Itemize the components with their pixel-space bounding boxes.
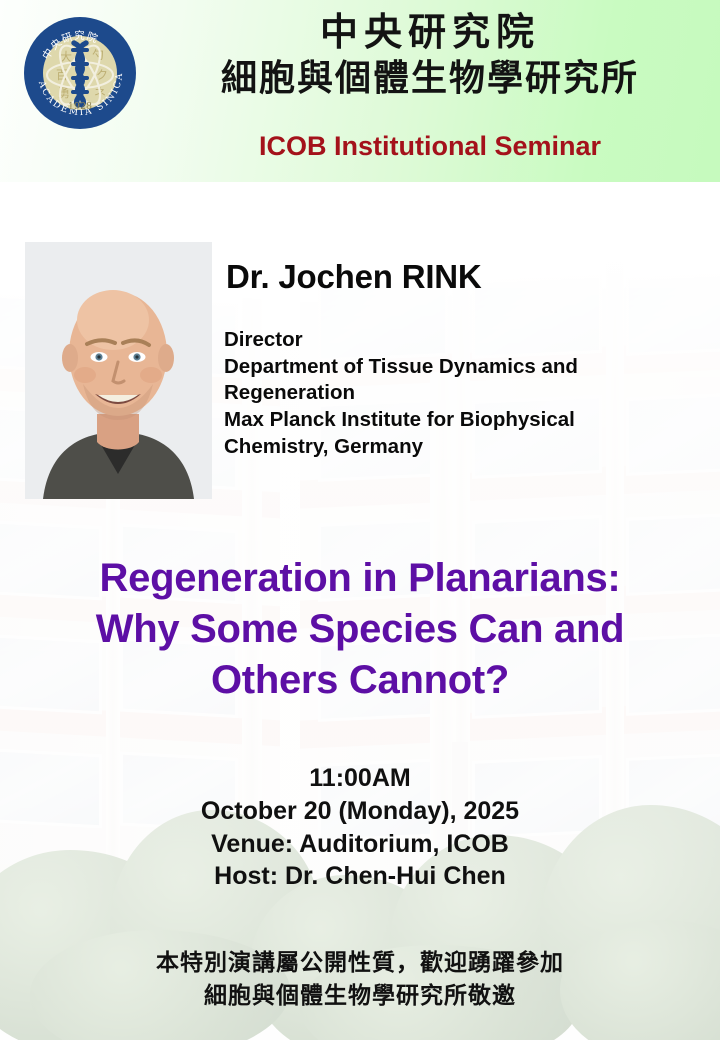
speaker-photo: [25, 242, 212, 499]
affiliation-line: Department of Tissue Dynamics and: [224, 354, 702, 381]
footer-notice: 本特別演講屬公開性質，歡迎踴躍參加 細胞與個體生物學研究所敬邀: [20, 947, 700, 1012]
academia-sinica-logo-icon: 大 勺 百 ク 勇 ネ: [24, 17, 136, 129]
footer-line-2: 細胞與個體生物學研究所敬邀: [20, 980, 700, 1013]
event-time: 11:00AM: [20, 762, 700, 795]
talk-title-line: Regeneration in Planarians:: [20, 553, 700, 604]
talk-title-line: Others Cannot?: [20, 655, 700, 706]
event-details: 11:00AM October 20 (Monday), 2025 Venue:…: [20, 762, 700, 893]
org-line-2: 細胞與個體生物學研究所: [150, 57, 710, 99]
affiliation-line: Max Planck Institute for Biophysical: [224, 407, 702, 434]
speaker-affiliation: Director Department of Tissue Dynamics a…: [224, 327, 702, 460]
poster-header: 大 勺 百 ク 勇 ネ: [0, 0, 720, 182]
talk-title-line: Why Some Species Can and: [20, 604, 700, 655]
svg-text:勺: 勺: [92, 48, 104, 62]
logo-year: 1928: [68, 101, 92, 112]
organization-title: 中央研究院 細胞與個體生物學研究所: [150, 10, 710, 99]
affiliation-line: Chemistry, Germany: [224, 434, 702, 461]
talk-title: Regeneration in Planarians: Why Some Spe…: [20, 553, 700, 707]
org-line-1: 中央研究院: [150, 10, 710, 55]
event-date: October 20 (Monday), 2025: [20, 795, 700, 828]
seminar-label: ICOB Institutional Seminar: [150, 131, 710, 162]
footer-line-1: 本特別演講屬公開性質，歡迎踴躍參加: [20, 947, 700, 980]
affiliation-line: Director: [224, 327, 702, 354]
logo-artwork: 大 勺 百 ク 勇 ネ: [24, 17, 136, 129]
seminar-poster: 大 勺 百 ク 勇 ネ: [0, 0, 720, 1040]
speaker-name: Dr. Jochen RINK: [226, 258, 482, 296]
speaker-portrait-illustration: [25, 242, 212, 499]
event-venue: Venue: Auditorium, ICOB: [20, 828, 700, 861]
affiliation-line: Regeneration: [224, 380, 702, 407]
event-host: Host: Dr. Chen-Hui Chen: [20, 860, 700, 893]
